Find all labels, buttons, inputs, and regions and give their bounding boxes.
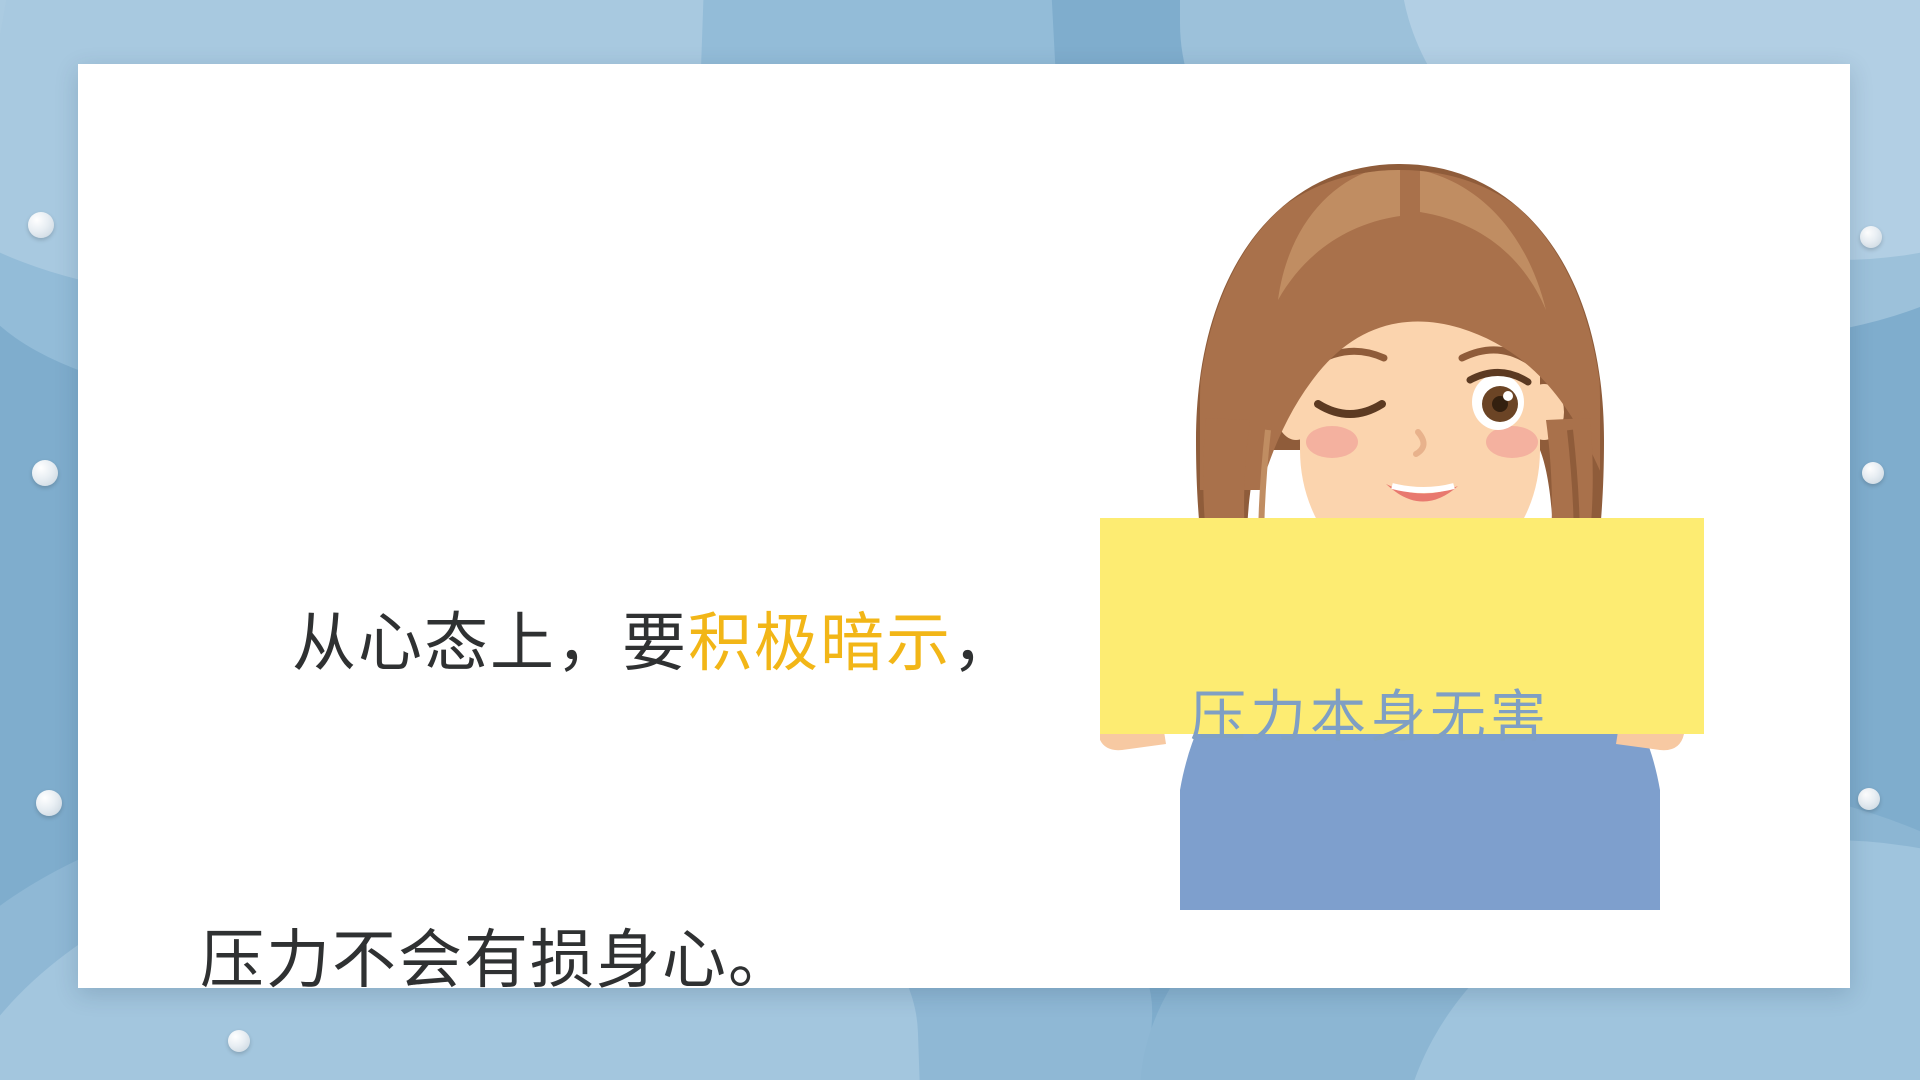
body-text-line-1-plain-end: ， <box>952 608 1018 679</box>
eye-right-highlight <box>1503 391 1513 401</box>
body-text-highlight: 积极暗示 <box>688 608 952 679</box>
body-text-line-2: 压力不会有损身心。 <box>200 908 1060 1014</box>
decorative-pin-right-bottom <box>1858 788 1880 810</box>
illustration-winking-woman <box>1100 150 1740 910</box>
decorative-pin-left-bottom <box>36 790 62 816</box>
decorative-pin-right-middle <box>1862 462 1884 484</box>
decorative-pin-right-top <box>1860 226 1882 248</box>
blush-left <box>1306 426 1358 458</box>
blush-right <box>1486 426 1538 458</box>
decorative-pin-left-top <box>28 212 54 238</box>
sign-text: 压力本身无害 <box>1155 690 1585 746</box>
body-text: 从心态上，要积极暗示， 压力不会有损身心。 <box>200 380 1060 1080</box>
body-text-line-1: 从心态上，要积极暗示， <box>200 591 1060 697</box>
decorative-pin-left-middle <box>32 460 58 486</box>
slide-root: 从心态上，要积极暗示， 压力不会有损身心。 <box>0 0 1920 1080</box>
body-text-line-1-plain-start: 从心态上，要 <box>292 608 688 679</box>
